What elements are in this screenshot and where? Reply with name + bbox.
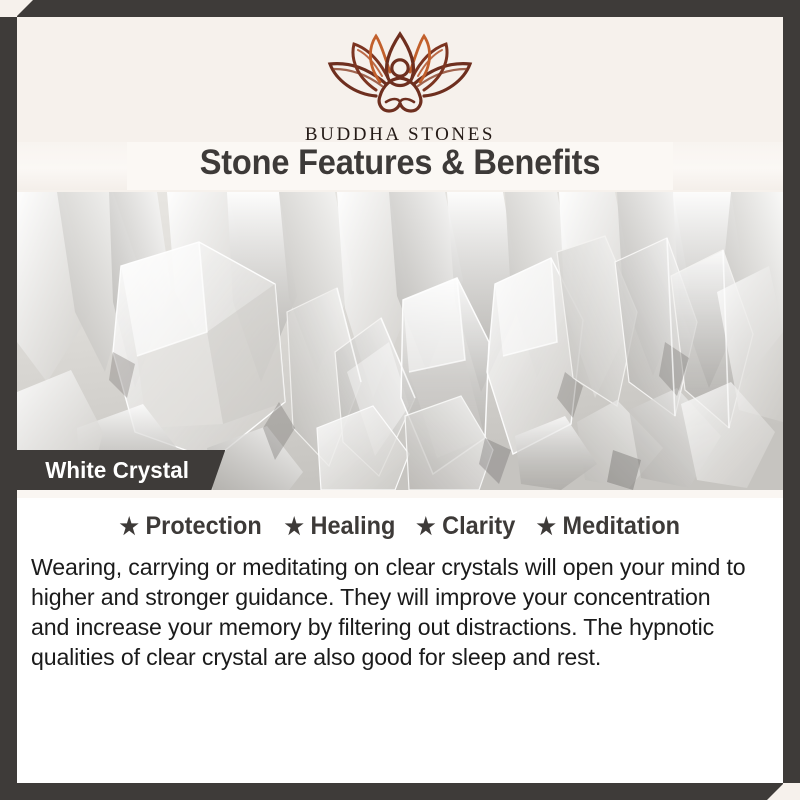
white-crystal-cluster-photo [17,192,783,490]
brand-logo: BUDDHA STONES [17,28,783,146]
header: BUDDHA STONES Stone Features & Benefits [17,17,783,192]
frame-bottom-right-notch [783,783,800,800]
frame-right-bar [783,0,800,800]
body-panel: ★ Protection ★ Healing ★ Clarity ★ Medit… [17,490,783,783]
benefit-label: Healing [310,512,395,541]
infographic-card: BUDDHA STONES Stone Features & Benefits [0,0,800,800]
description-paragraph: Wearing, carrying or meditating on clear… [31,552,752,672]
stone-label-badge: White Crystal [17,450,225,490]
star-icon: ★ [416,513,435,540]
benefit-label: Clarity [442,512,515,541]
benefits-row: ★ Protection ★ Healing ★ Clarity ★ Medit… [17,512,783,541]
frame-top-bar [0,0,800,17]
star-icon: ★ [120,513,139,540]
benefit-item-meditation: ★ Meditation [537,512,680,541]
frame-top-left-notch [0,0,17,17]
frame-left-bar [0,0,17,800]
stone-label-text: White Crystal [45,457,189,484]
benefit-label: Meditation [563,512,681,541]
page-title: Stone Features & Benefits [44,143,756,183]
lotus-meditation-icon [314,28,486,120]
star-icon: ★ [284,513,303,540]
body-top-divider [17,490,783,498]
benefit-item-healing: ★ Healing [284,512,395,541]
frame-bottom-bar [0,783,800,800]
crystal-illustration [17,192,783,490]
benefit-item-clarity: ★ Clarity [416,512,515,541]
benefit-item-protection: ★ Protection [120,512,262,541]
star-icon: ★ [537,513,556,540]
benefit-label: Protection [146,512,262,541]
